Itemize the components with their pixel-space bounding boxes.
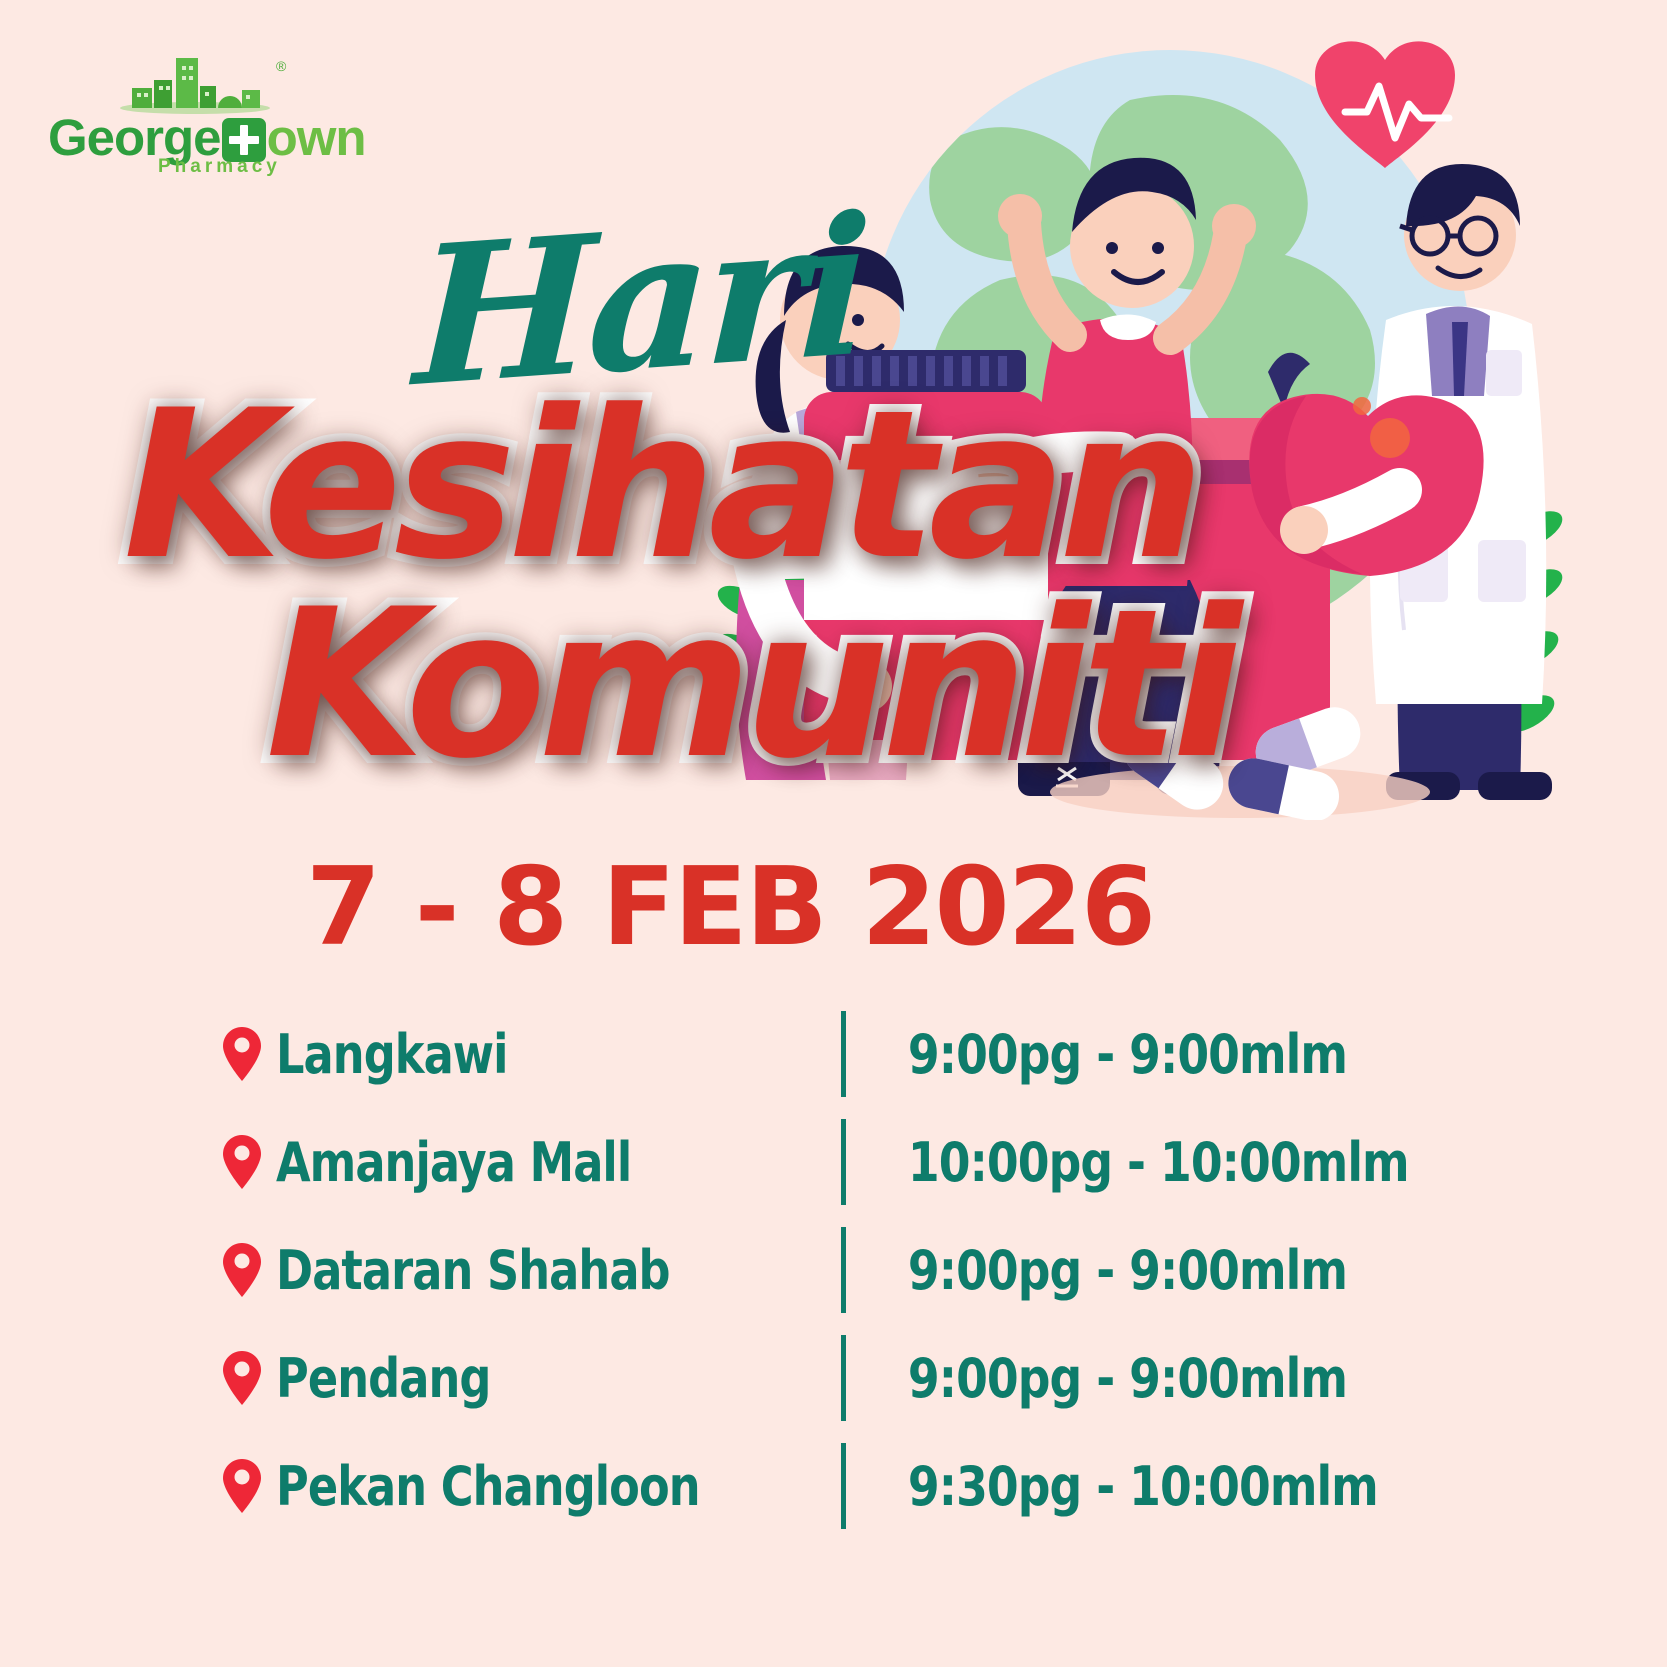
- map-pin-icon: [222, 1350, 262, 1406]
- brand-logo: ® Georgeown Pharmacy: [48, 52, 318, 172]
- location-time: 9:00pg - 9:00mlm: [844, 1347, 1618, 1410]
- location-name: Dataran Shahab: [276, 1239, 670, 1302]
- list-item: Pendang 9:00pg - 9:00mlm: [0, 1324, 1667, 1432]
- main-heading: Kesihatan Komuniti: [0, 392, 1320, 779]
- location-cell: Langkawi: [222, 1023, 842, 1086]
- location-cell: Dataran Shahab: [222, 1239, 842, 1302]
- location-time: 9:30pg - 10:00mlm: [844, 1455, 1618, 1518]
- location-cell: Pekan Changloon: [222, 1455, 842, 1518]
- location-schedule-list: Langkawi 9:00pg - 9:00mlm Amanjaya Mall …: [0, 1000, 1667, 1540]
- location-time: 10:00pg - 10:00mlm: [844, 1131, 1618, 1194]
- map-pin-icon: [222, 1026, 262, 1082]
- location-time: 9:00pg - 9:00mlm: [844, 1239, 1618, 1302]
- location-time: 9:00pg - 9:00mlm: [844, 1023, 1618, 1086]
- location-name: Pekan Changloon: [276, 1455, 700, 1518]
- brand-tagline: Pharmacy: [158, 156, 281, 178]
- location-cell: Pendang: [222, 1347, 842, 1410]
- location-name: Pendang: [276, 1347, 490, 1410]
- location-name: Langkawi: [276, 1023, 508, 1086]
- location-cell: Amanjaya Mall: [222, 1131, 842, 1194]
- map-pin-icon: [222, 1134, 262, 1190]
- poster-canvas: ® Georgeown Pharmacy: [0, 0, 1667, 1667]
- cityscape-icon: [120, 52, 270, 114]
- list-item: Amanjaya Mall 10:00pg - 10:00mlm: [0, 1108, 1667, 1216]
- list-item: Langkawi 9:00pg - 9:00mlm: [0, 1000, 1667, 1108]
- map-pin-icon: [222, 1242, 262, 1298]
- map-pin-icon: [222, 1458, 262, 1514]
- registered-mark: ®: [276, 58, 286, 74]
- list-item: Dataran Shahab 9:00pg - 9:00mlm: [0, 1216, 1667, 1324]
- heading-line-2: Komuniti: [180, 591, 1320, 780]
- brand-name-part2: own: [267, 109, 366, 166]
- list-item: Pekan Changloon 9:30pg - 10:00mlm: [0, 1432, 1667, 1540]
- event-date: 7 - 8 FEB 2026: [0, 845, 1460, 970]
- location-name: Amanjaya Mall: [276, 1131, 631, 1194]
